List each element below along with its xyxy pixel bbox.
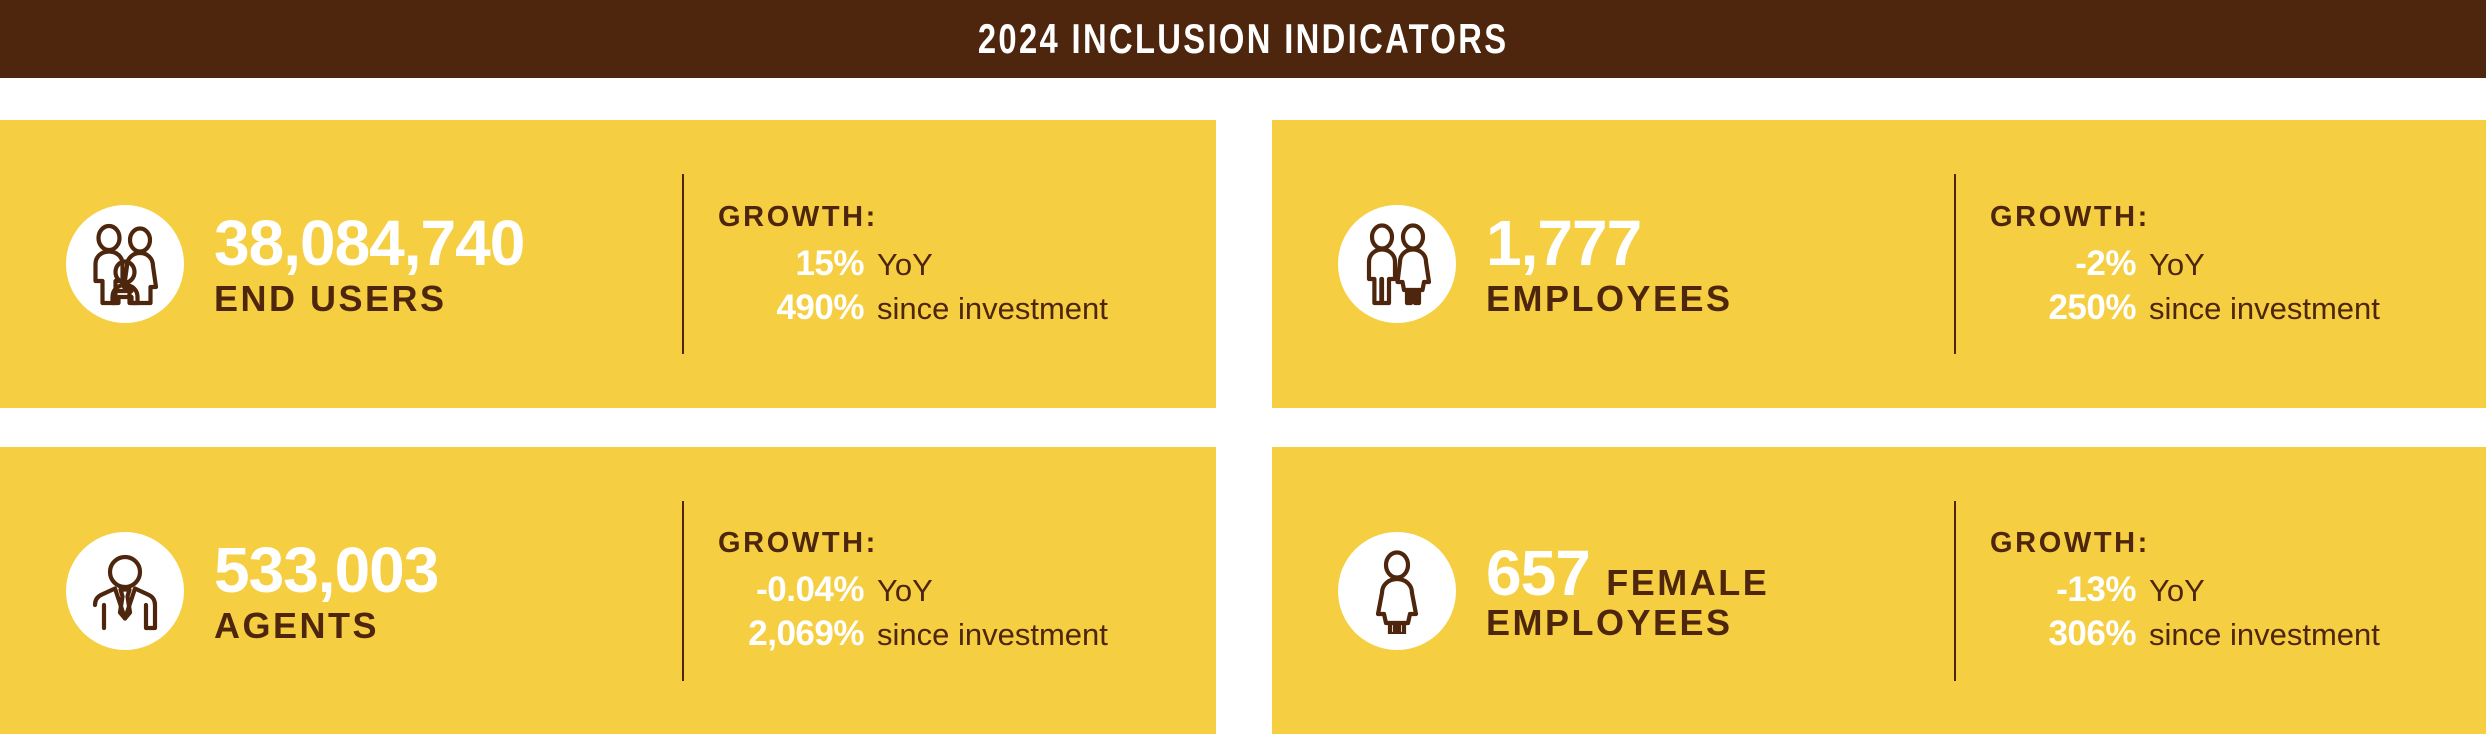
stat-card-employees: 1,777 EMPLOYEES GROWTH: -2% YoY 250% sin… (1272, 120, 2486, 408)
growth-period: since investment (2149, 291, 2380, 327)
infographic-root: 2024 INCLUSION INDICATORS (0, 0, 2486, 734)
growth-percent: 306% (1990, 614, 2136, 654)
growth-percent: -2% (1990, 244, 2136, 284)
vertical-divider (1954, 174, 1956, 354)
couple-icon (1338, 205, 1456, 323)
growth-percent: 250% (1990, 288, 2136, 328)
growth-percent: 15% (718, 244, 864, 284)
vertical-divider (682, 501, 684, 681)
growth-period: since investment (877, 617, 1108, 653)
family-icon (66, 205, 184, 323)
growth-period: YoY (877, 247, 933, 283)
stat-value: 38,084,740 (214, 207, 524, 279)
growth-row: 15% YoY (718, 244, 1216, 284)
growth-block: GROWTH: 15% YoY 490% since investment (718, 201, 1216, 328)
cards-grid: 38,084,740 END USERS GROWTH: 15% YoY 490… (0, 120, 2486, 734)
growth-period: since investment (877, 291, 1108, 327)
stat-block: 38,084,740 END USERS (184, 211, 676, 317)
stat-line: 533,003 AGENTS (214, 538, 676, 644)
page-title: 2024 INCLUSION INDICATORS (978, 15, 1509, 63)
vertical-divider (1954, 501, 1956, 681)
growth-title: GROWTH: (718, 527, 1216, 560)
stat-block: 1,777 EMPLOYEES (1456, 211, 1948, 317)
stat-line: 38,084,740 END USERS (214, 211, 676, 317)
growth-period: YoY (2149, 247, 2205, 283)
agent-icon (66, 532, 184, 650)
stat-block: 533,003 AGENTS (184, 538, 676, 644)
growth-row: -2% YoY (1990, 244, 2486, 284)
growth-row: -13% YoY (1990, 570, 2486, 610)
growth-period: since investment (2149, 617, 2380, 653)
stat-label: EMPLOYEES (1486, 281, 1948, 317)
growth-title: GROWTH: (1990, 527, 2486, 560)
stat-value: 1,777 (1486, 207, 1641, 279)
growth-row: 2,069% since investment (718, 614, 1216, 654)
stat-value: 657 (1486, 537, 1590, 609)
growth-percent: 490% (718, 288, 864, 328)
stat-label: END USERS (214, 281, 676, 317)
growth-period: YoY (2149, 573, 2205, 609)
growth-title: GROWTH: (1990, 201, 2486, 234)
stat-value: 533,003 (214, 534, 438, 606)
growth-percent: 2,069% (718, 614, 864, 654)
header-band: 2024 INCLUSION INDICATORS (0, 0, 2486, 78)
growth-row: -0.04% YoY (718, 570, 1216, 610)
growth-title: GROWTH: (718, 201, 1216, 234)
growth-period: YoY (877, 573, 933, 609)
growth-block: GROWTH: -13% YoY 306% since investment (1990, 527, 2486, 654)
growth-percent: -13% (1990, 570, 2136, 610)
growth-row: 490% since investment (718, 288, 1216, 328)
stat-card-agents: 533,003 AGENTS GROWTH: -0.04% YoY 2,069%… (0, 447, 1216, 734)
stat-card-end-users: 38,084,740 END USERS GROWTH: 15% YoY 490… (0, 120, 1216, 408)
stat-line: 657 FEMALE EMPLOYEES (1486, 541, 1948, 641)
vertical-divider (682, 174, 684, 354)
stat-block: 657 FEMALE EMPLOYEES (1456, 541, 1948, 641)
growth-row: 250% since investment (1990, 288, 2486, 328)
growth-percent: -0.04% (718, 570, 864, 610)
female-icon (1338, 532, 1456, 650)
growth-row: 306% since investment (1990, 614, 2486, 654)
growth-block: GROWTH: -0.04% YoY 2,069% since investme… (718, 527, 1216, 654)
growth-block: GROWTH: -2% YoY 250% since investment (1990, 201, 2486, 328)
stat-label: AGENTS (214, 608, 676, 644)
stat-line: 1,777 EMPLOYEES (1486, 211, 1948, 317)
stat-card-female-employees: 657 FEMALE EMPLOYEES GROWTH: -13% YoY 30… (1272, 447, 2486, 734)
